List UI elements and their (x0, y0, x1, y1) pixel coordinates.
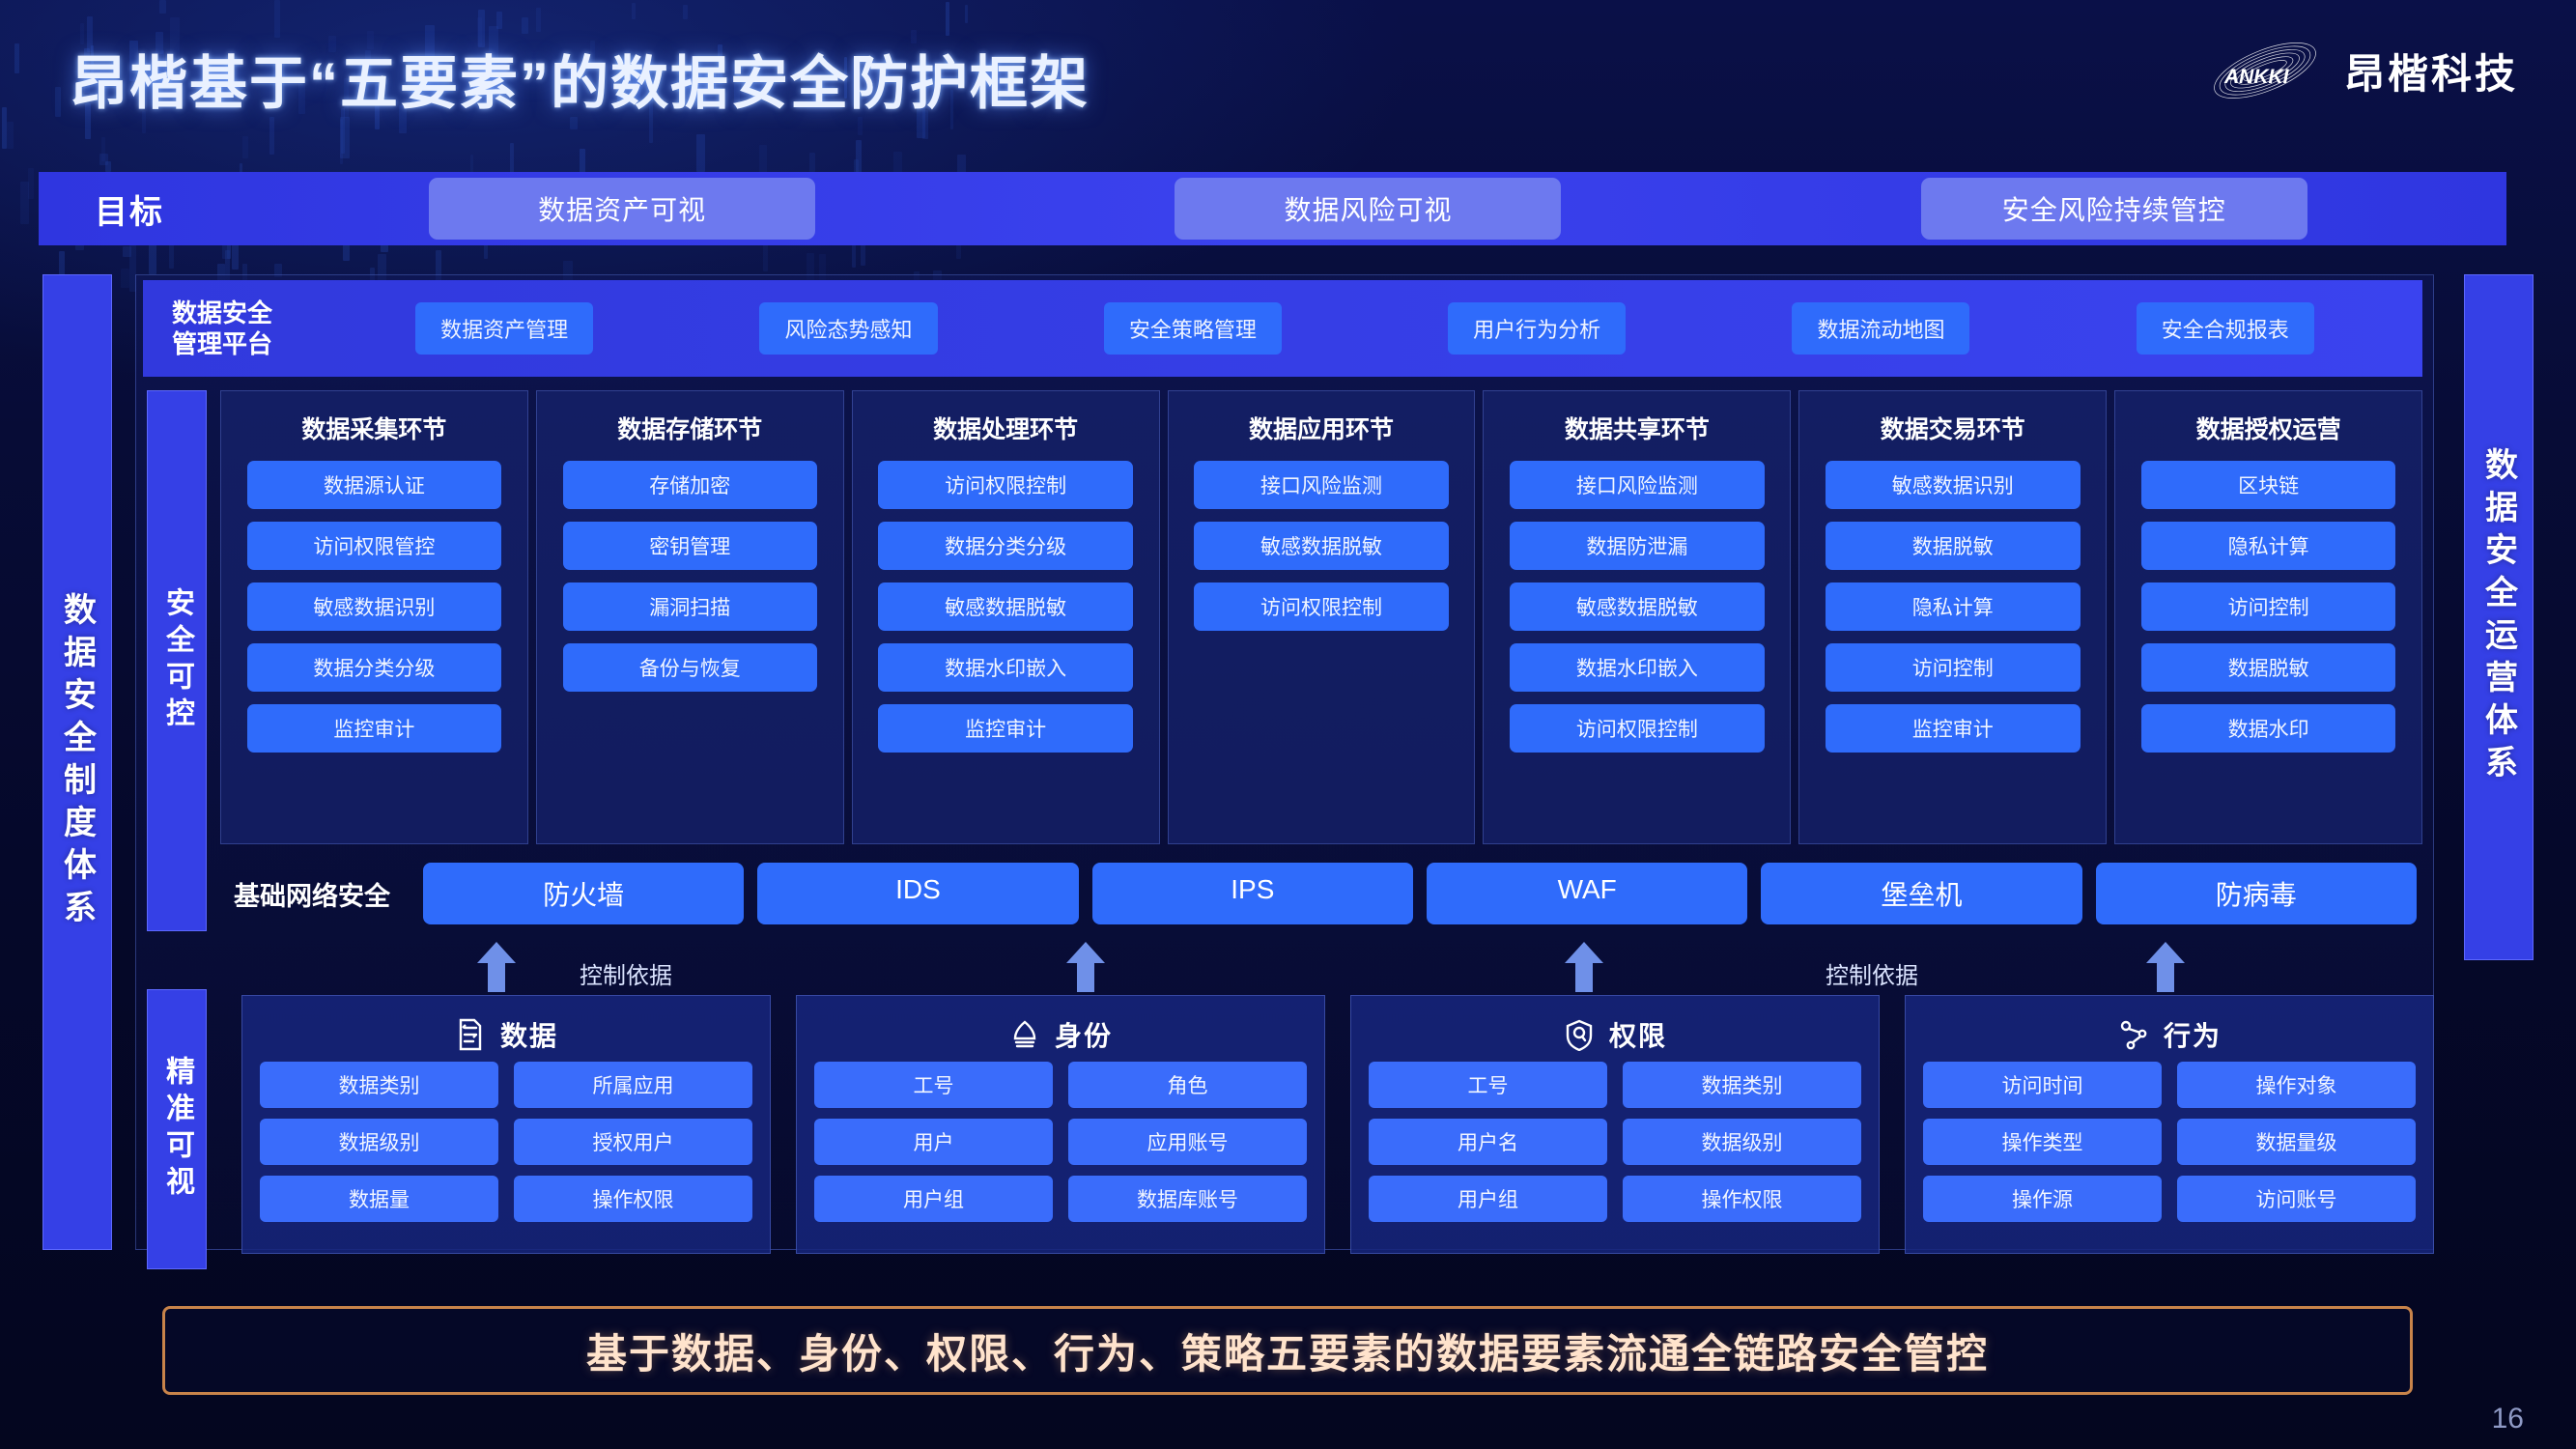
element-item-grid: 访问时间操作对象操作类型数据量级操作源访问账号 (1923, 1062, 2416, 1222)
stage-item[interactable]: 敏感数据脱敏 (1194, 522, 1449, 570)
ankki-logo-icon: ANKKI (2201, 35, 2329, 106)
element-item[interactable]: 用户 (814, 1119, 1053, 1165)
up-arrow-icon (2146, 942, 2185, 992)
element-item[interactable]: 操作源 (1923, 1176, 2162, 1222)
summary-banner: 基于数据、身份、权限、行为、策略五要素的数据要素流通全链路安全管控 (162, 1306, 2413, 1395)
goal-chip[interactable]: 安全风险持续管控 (1921, 178, 2307, 240)
network-security-label: 基础网络安全 (220, 875, 423, 913)
ankki-wordmark: ANKKI (2223, 66, 2290, 88)
up-arrow-icon (1066, 942, 1105, 992)
stage-title: 数据采集环节 (301, 411, 446, 445)
network-chip[interactable]: 防火墙 (423, 863, 744, 924)
label-security-controllable: 安全可控 (147, 390, 207, 931)
five-elements-panels: 数据数据类别所属应用数据级别授权用户数据量操作权限身份工号角色用户应用账号用户组… (241, 995, 2434, 1254)
stage-item[interactable]: 数据水印嵌入 (1510, 643, 1765, 692)
goal-bar: 目标 数据资产可视数据风险可视安全风险持续管控 (39, 172, 2506, 245)
stage-item[interactable]: 监控审计 (878, 704, 1133, 753)
stage-item[interactable]: 密钥管理 (563, 522, 818, 570)
stage-item[interactable]: 数据分类分级 (878, 522, 1133, 570)
platform-label-line2: 管理平台 (172, 328, 307, 360)
element-panel: 身份工号角色用户应用账号用户组数据库账号 (796, 995, 1325, 1254)
stage-item[interactable]: 数据脱敏 (2141, 643, 2396, 692)
label-precise-visibility: 精准可视 (147, 989, 207, 1269)
element-panel-title: 数据 (500, 1015, 558, 1054)
element-item[interactable]: 访问账号 (2177, 1176, 2416, 1222)
stage-item[interactable]: 数据水印嵌入 (878, 643, 1133, 692)
stage-item[interactable]: 存储加密 (563, 461, 818, 509)
stage-item[interactable]: 访问权限控制 (1194, 582, 1449, 631)
element-item[interactable]: 操作权限 (514, 1176, 752, 1222)
element-item[interactable]: 访问时间 (1923, 1062, 2162, 1108)
element-panel: 行为访问时间操作对象操作类型数据量级操作源访问账号 (1905, 995, 2434, 1254)
basis-label-left: 控制依据 (580, 956, 672, 990)
shield-key-icon (1563, 1018, 1596, 1051)
element-item[interactable]: 应用账号 (1068, 1119, 1307, 1165)
stage-item[interactable]: 敏感数据识别 (1826, 461, 2081, 509)
stage-item[interactable]: 接口风险监测 (1510, 461, 1765, 509)
brand-logo: ANKKI 昂楷科技 (2201, 35, 2518, 106)
platform-chip[interactable]: 安全策略管理 (1104, 302, 1282, 355)
platform-chip[interactable]: 数据流动地图 (1792, 302, 1969, 355)
element-item[interactable]: 数据级别 (260, 1119, 498, 1165)
sidebar-data-security-operation: 数据安全运营体系 (2464, 274, 2534, 960)
up-arrow-icon (477, 942, 516, 992)
up-arrow-icon (1565, 942, 1603, 992)
page-number: 16 (2492, 1403, 2524, 1435)
stage-item[interactable]: 访问权限控制 (1510, 704, 1765, 753)
data-flow-icon (454, 1018, 487, 1051)
stage-item[interactable]: 数据源认证 (247, 461, 502, 509)
platform-chip-list: 数据资产管理风险态势感知安全策略管理用户行为分析数据流动地图安全合规报表 (307, 302, 2422, 355)
element-item[interactable]: 操作权限 (1623, 1176, 1861, 1222)
network-chip[interactable]: 防病毒 (2096, 863, 2417, 924)
stage-item[interactable]: 访问权限控制 (878, 461, 1133, 509)
network-chip-list: 防火墙IDSIPSWAF堡垒机防病毒 (423, 863, 2422, 924)
goal-chip[interactable]: 数据资产可视 (429, 178, 815, 240)
stage-item[interactable]: 隐私计算 (1826, 582, 2081, 631)
goal-label: 目标 (95, 185, 249, 233)
stage-item[interactable]: 接口风险监测 (1194, 461, 1449, 509)
element-item[interactable]: 用户组 (814, 1176, 1053, 1222)
element-item[interactable]: 用户名 (1369, 1119, 1607, 1165)
element-item[interactable]: 数据类别 (260, 1062, 498, 1108)
element-panel: 权限工号数据类别用户名数据级别用户组操作权限 (1350, 995, 1880, 1254)
stage-item[interactable]: 访问控制 (2141, 582, 2396, 631)
slide-root: 昂楷基于“五要素”的数据安全防护框架 ANKKI 昂楷科技 目标 数据资产可视数… (0, 0, 2576, 1449)
element-item[interactable]: 工号 (1369, 1062, 1607, 1108)
stage-item[interactable]: 监控审计 (1826, 704, 2081, 753)
stage-item[interactable]: 监控审计 (247, 704, 502, 753)
stage-item[interactable]: 敏感数据脱敏 (878, 582, 1133, 631)
element-item[interactable]: 数据量级 (2177, 1119, 2416, 1165)
element-item-grid: 数据类别所属应用数据级别授权用户数据量操作权限 (260, 1062, 752, 1222)
stage-item[interactable]: 数据分类分级 (247, 643, 502, 692)
network-chip[interactable]: IDS (757, 863, 1078, 924)
basis-label-right: 控制依据 (1826, 956, 1918, 990)
element-item[interactable]: 授权用户 (514, 1119, 752, 1165)
stage-column: 数据交易环节敏感数据识别数据脱敏隐私计算访问控制监控审计 (1798, 390, 2107, 844)
lifecycle-stage-columns: 数据采集环节数据源认证访问权限管控敏感数据识别数据分类分级监控审计数据存储环节存… (220, 390, 2422, 844)
element-item[interactable]: 数据量 (260, 1176, 498, 1222)
element-panel-header: 数据 (260, 1008, 752, 1062)
stage-column: 数据应用环节接口风险监测敏感数据脱敏访问权限控制 (1168, 390, 1476, 844)
stage-title: 数据应用环节 (1249, 411, 1394, 445)
platform-chip[interactable]: 安全合规报表 (2137, 302, 2314, 355)
stage-title: 数据交易环节 (1881, 411, 2025, 445)
element-item-grid: 工号数据类别用户名数据级别用户组操作权限 (1369, 1062, 1861, 1222)
element-panel: 数据数据类别所属应用数据级别授权用户数据量操作权限 (241, 995, 771, 1254)
platform-chip[interactable]: 风险态势感知 (759, 302, 937, 355)
stage-item[interactable]: 敏感数据脱敏 (1510, 582, 1765, 631)
goal-chip-list: 数据资产可视数据风险可视安全风险持续管控 (249, 178, 2506, 240)
stage-item[interactable]: 访问权限管控 (247, 522, 502, 570)
stage-item[interactable]: 区块链 (2141, 461, 2396, 509)
stage-column: 数据共享环节接口风险监测数据防泄漏敏感数据脱敏数据水印嵌入访问权限控制 (1483, 390, 1791, 844)
stage-item[interactable]: 备份与恢复 (563, 643, 818, 692)
brand-name: 昂楷科技 (2344, 42, 2518, 100)
summary-banner-text: 基于数据、身份、权限、行为、策略五要素的数据要素流通全链路安全管控 (586, 1321, 1989, 1380)
element-item[interactable]: 工号 (814, 1062, 1053, 1108)
stage-item[interactable]: 数据水印 (2141, 704, 2396, 753)
element-panel-title: 身份 (1055, 1015, 1113, 1054)
network-chip[interactable]: 堡垒机 (1761, 863, 2081, 924)
stage-title: 数据共享环节 (1565, 411, 1710, 445)
platform-label-line1: 数据安全 (172, 298, 307, 329)
stage-item[interactable]: 数据脱敏 (1826, 522, 2081, 570)
stage-item[interactable]: 隐私计算 (2141, 522, 2396, 570)
stage-title: 数据授权运营 (2196, 411, 2341, 445)
platform-chip[interactable]: 数据资产管理 (415, 302, 593, 355)
network-security-row: 基础网络安全 防火墙IDSIPSWAF堡垒机防病毒 (220, 856, 2422, 931)
platform-row: 数据安全 管理平台 数据资产管理风险态势感知安全策略管理用户行为分析数据流动地图… (143, 280, 2422, 377)
stage-title: 数据处理环节 (933, 411, 1078, 445)
platform-label: 数据安全 管理平台 (172, 298, 307, 360)
element-panel-title: 权限 (1609, 1015, 1667, 1054)
stage-column: 数据采集环节数据源认证访问权限管控敏感数据识别数据分类分级监控审计 (220, 390, 528, 844)
element-panel-header: 行为 (1923, 1008, 2416, 1062)
element-item[interactable]: 角色 (1068, 1062, 1307, 1108)
element-item[interactable]: 数据库账号 (1068, 1176, 1307, 1222)
element-item[interactable]: 操作对象 (2177, 1062, 2416, 1108)
element-item[interactable]: 数据类别 (1623, 1062, 1861, 1108)
platform-chip[interactable]: 用户行为分析 (1448, 302, 1626, 355)
stage-title: 数据存储环节 (617, 411, 762, 445)
stage-item[interactable]: 漏洞扫描 (563, 582, 818, 631)
stage-column: 数据处理环节访问权限控制数据分类分级敏感数据脱敏数据水印嵌入监控审计 (852, 390, 1160, 844)
sidebar-data-security-system: 数据安全制度体系 (42, 274, 112, 1250)
element-item[interactable]: 数据级别 (1623, 1119, 1861, 1165)
network-chip[interactable]: IPS (1092, 863, 1413, 924)
behavior-node-icon (2117, 1018, 2150, 1051)
goal-chip[interactable]: 数据风险可视 (1175, 178, 1561, 240)
identity-badge-icon (1008, 1018, 1041, 1051)
element-item[interactable]: 用户组 (1369, 1176, 1607, 1222)
element-item[interactable]: 操作类型 (1923, 1119, 2162, 1165)
page-title: 昂楷基于“五要素”的数据安全防护框架 (70, 37, 1090, 121)
element-panel-header: 身份 (814, 1008, 1307, 1062)
stage-column: 数据授权运营区块链隐私计算访问控制数据脱敏数据水印 (2114, 390, 2422, 844)
element-item[interactable]: 所属应用 (514, 1062, 752, 1108)
network-chip[interactable]: WAF (1427, 863, 1747, 924)
element-item-grid: 工号角色用户应用账号用户组数据库账号 (814, 1062, 1307, 1222)
element-panel-header: 权限 (1369, 1008, 1861, 1062)
stage-item[interactable]: 敏感数据识别 (247, 582, 502, 631)
element-panel-title: 行为 (2164, 1015, 2222, 1054)
stage-item[interactable]: 数据防泄漏 (1510, 522, 1765, 570)
stage-item[interactable]: 访问控制 (1826, 643, 2081, 692)
stage-column: 数据存储环节存储加密密钥管理漏洞扫描备份与恢复 (536, 390, 844, 844)
